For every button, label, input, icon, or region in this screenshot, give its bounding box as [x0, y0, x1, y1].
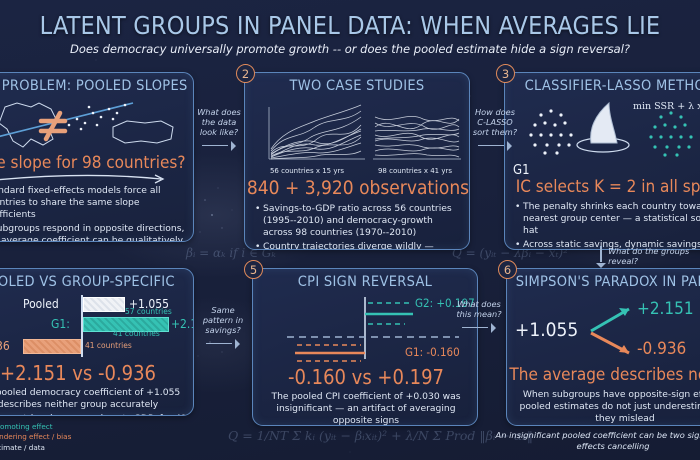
- connector-problem-to-cases: What does the data look like?: [196, 108, 242, 151]
- panel-2-trajectory-charts: [245, 97, 470, 167]
- panel-6-bullets: When subgroups have opposite-sign effect…: [515, 389, 700, 426]
- arrow-down-icon: [596, 246, 604, 268]
- panel-pooled-vs-group-specific: POOLED VS GROUP-SPECIFIC Pooled +1.055 G…: [0, 268, 194, 416]
- panel-6-headline: The average describes no one: [507, 365, 700, 385]
- connector-method-to-paradox-label: What do the groups reveal?: [608, 247, 700, 267]
- panel-1-illustration: [0, 95, 194, 155]
- legend-item-pooled: Pooled estimate / data: [0, 443, 71, 453]
- connector-cases-to-method: How does C-LASSO sort them?: [472, 108, 518, 151]
- bar-count-g1: 57 countries: [125, 307, 172, 316]
- panel-2-chart-caption-left: 56 countries x 15 yrs: [251, 167, 363, 175]
- panel-cpi-sign-reversal: CPI SIGN REVERSAL G2: +0.197 G1: -0.160 …: [252, 268, 478, 426]
- bar-count-g2: 41 countries: [85, 341, 132, 350]
- connector-cases-to-method-label: How does C-LASSO sort them?: [473, 107, 517, 137]
- arrow-right-icon-2: [478, 141, 512, 151]
- panel-2-title: TWO CASE STUDIES: [245, 78, 469, 94]
- connector-problem-to-cases-label: What does the data look like?: [197, 107, 241, 137]
- not-equal-icon: [41, 113, 65, 139]
- panel-6-badge: 6: [498, 260, 517, 279]
- legend-item-hindering: Growth-hindering effect / bias: [0, 432, 71, 442]
- poster-title: LATENT GROUPS IN PANEL DATA: WHEN AVERAG…: [0, 11, 700, 40]
- panel-1-headline: One slope for 98 countries?: [0, 153, 194, 173]
- arrow-right-icon-1: [202, 141, 236, 151]
- bar-label-g1: G1:: [51, 317, 70, 331]
- panel-1-underline-swoosh: [0, 173, 194, 185]
- panel-4-title: POOLED VS GROUP-SPECIFIC: [0, 274, 193, 290]
- panel-2-chart-caption-right: 98 countries x 41 yrs: [363, 167, 467, 175]
- paradox-down-value: -0.936: [637, 339, 686, 359]
- panel-3-group-left-label: G1: [513, 163, 530, 178]
- panel-4-headline: +2.151 vs -0.936: [0, 361, 194, 385]
- connector-method-to-paradox: What do the groups reveal?: [596, 246, 700, 268]
- panel-5-title: CPI SIGN REVERSAL: [253, 274, 477, 290]
- panel-2-badge: 2: [236, 64, 255, 83]
- panel-1-bullet-1: Standard fixed-effects models force all …: [0, 185, 187, 220]
- panel-2-bullet-2: Country trajectories diverge wildly — mo…: [255, 241, 463, 250]
- bar-g2: [23, 339, 81, 354]
- panel-3-formula: min SSR + λ x ∏: [633, 101, 700, 112]
- panel-3-bullet-1: The penalty shrinks each country toward …: [515, 201, 700, 236]
- arrow-down-branch: [591, 333, 629, 353]
- connector-cpi-to-paradox-label: What does this mean?: [456, 299, 501, 319]
- panel-2-bullet-1: Savings-to-GDP ratio across 56 countries…: [255, 203, 463, 238]
- panel-6-title: SIMPSON'S PARADOX IN PANELS: [507, 274, 700, 290]
- connector-cpi-to-paradox: What does this mean?: [456, 300, 502, 333]
- forest-label-g1: G1: -0.160: [405, 345, 460, 359]
- arrow-right-icon-4: [462, 323, 496, 333]
- panel-two-case-studies: TWO CASE STUDIES: [244, 72, 470, 250]
- panel-1-bullet-2: If subgroups respond in opposite directi…: [0, 223, 187, 242]
- sorting-hat-icon: [577, 103, 629, 152]
- bar-label-pooled: Pooled: [23, 297, 59, 311]
- legend-item-promoting: Growth-promoting effect: [0, 422, 71, 432]
- poster-subtitle: Does democracy universally promote growt…: [0, 42, 700, 56]
- panel-3-badge: 3: [496, 64, 515, 83]
- panel-2-bullets: Savings-to-GDP ratio across 56 countries…: [255, 203, 463, 250]
- bar-value-g1: +2.151: [171, 317, 194, 331]
- bar-pooled: [83, 297, 125, 312]
- bar-value-g2: -0.936: [0, 339, 10, 353]
- arrow-up-branch: [591, 308, 629, 331]
- connector-results-to-cpi-label: Same pattern in savings?: [203, 305, 243, 335]
- panel-problem-pooled-slopes: THE PROBLEM: POOLED SLOPES One slope for…: [0, 72, 194, 242]
- panel-4-bullet-1: The pooled democracy coefficient of +1.0…: [0, 387, 187, 411]
- color-legend: Growth-promoting effect Growth-hindering…: [0, 422, 71, 453]
- panel-classifier-lasso-method: CLASSIFIER-LASSO METHOD min SSR +: [504, 72, 700, 250]
- panel-5-badge: 5: [244, 260, 263, 279]
- panel-5-bullets: The pooled CPI coefficient of +0.030 was…: [259, 391, 473, 426]
- infographic-poster: LATENT GROUPS IN PANEL DATA: WHEN AVERAG…: [0, 0, 700, 460]
- paradox-up-value: +2.151: [637, 299, 694, 319]
- panel-3-headline: IC selects K = 2 in all specs: [505, 177, 700, 197]
- panel-3-bullets: The penalty shrinks each country toward …: [515, 201, 700, 250]
- arrow-right-icon-3: [206, 339, 240, 349]
- poster-footer: An insignificant pooled coefficient can …: [488, 430, 700, 452]
- panel-1-bullets: Standard fixed-effects models force all …: [0, 185, 187, 242]
- panel-3-title: CLASSIFIER-LASSO METHOD: [505, 78, 700, 94]
- bar-count-g1-lower: 41 countries: [113, 329, 160, 338]
- connector-results-to-cpi: Same pattern in savings?: [200, 306, 246, 349]
- panel-2-headline: 840 + 3,920 observations: [245, 177, 470, 199]
- panel-4-bullets: The pooled democracy coefficient of +1.0…: [0, 387, 187, 416]
- panel-6-bullet-1: When subgroups have opposite-sign effect…: [515, 389, 700, 424]
- panel-5-bullet-1: The pooled CPI coefficient of +0.030 was…: [259, 391, 473, 426]
- panel-4-bullet-2: For 57 countries democracy boosts GDP; f…: [0, 413, 187, 416]
- panel-1-title: THE PROBLEM: POOLED SLOPES: [0, 78, 193, 94]
- panel-simpsons-paradox: SIMPSON'S PARADOX IN PANELS +1.055 +2.15…: [506, 268, 700, 426]
- panel-5-headline: -0.160 vs +0.197: [253, 365, 478, 389]
